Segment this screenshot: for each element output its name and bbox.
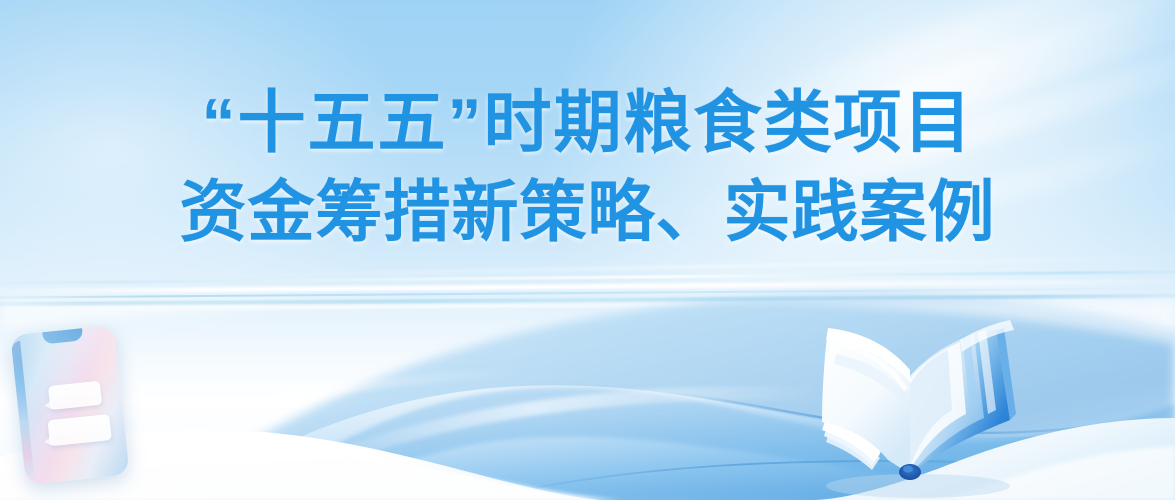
banner-graphic: “十五五”时期粮食类项目 资金筹措新策略、实践案例: [0, 0, 1175, 500]
chat-bubble-tail-icon: [44, 436, 52, 447]
streak-line: [0, 278, 1175, 294]
streak-line: [0, 256, 1175, 282]
phone-notch: [42, 327, 83, 344]
chat-bubble-icon: [47, 414, 111, 446]
wave-white-right: [810, 418, 1175, 500]
phone-shine: [10, 325, 129, 485]
banner-title: “十五五”时期粮食类项目 资金筹措新策略、实践案例: [0, 78, 1175, 258]
wave-white-left: [0, 429, 600, 500]
title-line-2: 资金筹措新策略、实践案例: [0, 168, 1175, 258]
wave-blue-main: [175, 385, 1175, 500]
phone-edge: [11, 341, 34, 477]
wave-crest-line: [660, 392, 1175, 433]
wave-blue-secondary: [250, 387, 1175, 500]
wave-white-right-soft: [915, 446, 1175, 500]
open-book-illustration: [810, 310, 1025, 500]
wave-veil: [0, 298, 1175, 344]
streak-line: [0, 270, 1175, 285]
streak-line: [0, 287, 1175, 299]
chat-bubble-tail-icon: [44, 400, 52, 411]
title-line-1: “十五五”时期粮食类项目: [0, 78, 1175, 168]
streak-line: [0, 300, 1175, 311]
wave-highlight: [60, 372, 520, 452]
chat-bubble-icon: [48, 381, 102, 410]
wave-highlight: [300, 393, 820, 470]
wave-crest-line: [470, 461, 1175, 500]
streak-line: [0, 294, 1175, 307]
wave-soft-blue: [150, 294, 1175, 500]
phone-body: [10, 325, 129, 485]
wave-white-left-soft: [0, 440, 620, 500]
smartphone-illustration: [10, 325, 129, 485]
